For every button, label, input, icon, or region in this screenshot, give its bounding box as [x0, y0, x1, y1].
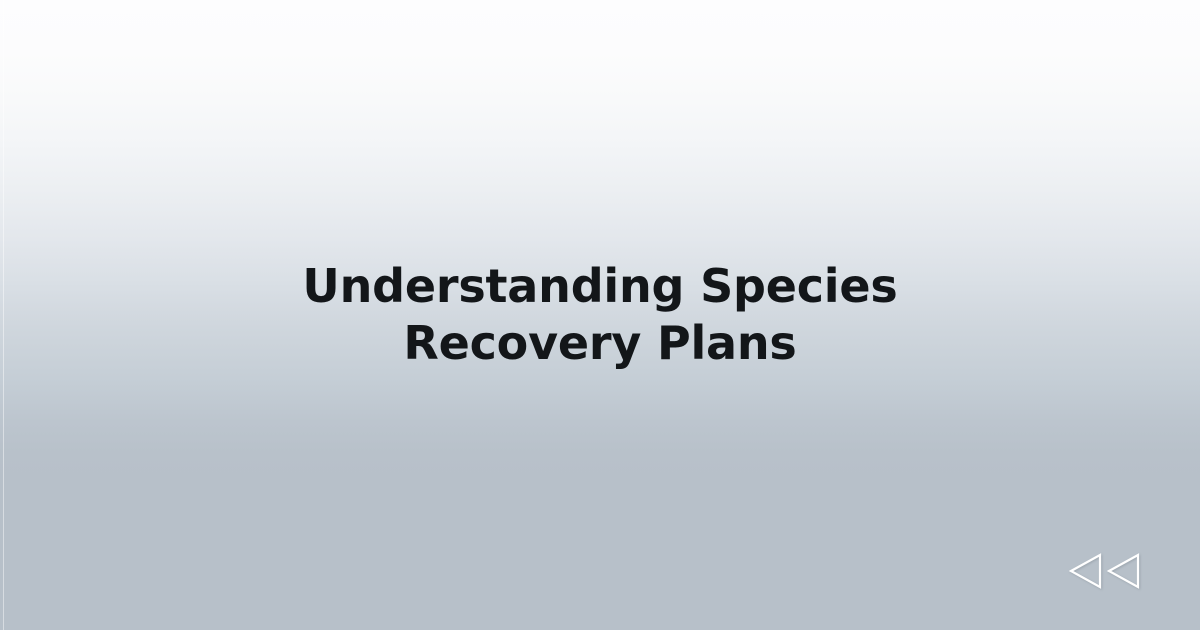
title-container: Understanding Species Recovery Plans: [0, 0, 1200, 630]
rewind-control[interactable]: [1068, 552, 1142, 590]
hero-card: Understanding Species Recovery Plans: [0, 0, 1200, 630]
triangle-left-icon[interactable]: [1068, 552, 1104, 590]
triangle-left-icon[interactable]: [1106, 552, 1142, 590]
page-title: Understanding Species Recovery Plans: [200, 258, 1000, 372]
